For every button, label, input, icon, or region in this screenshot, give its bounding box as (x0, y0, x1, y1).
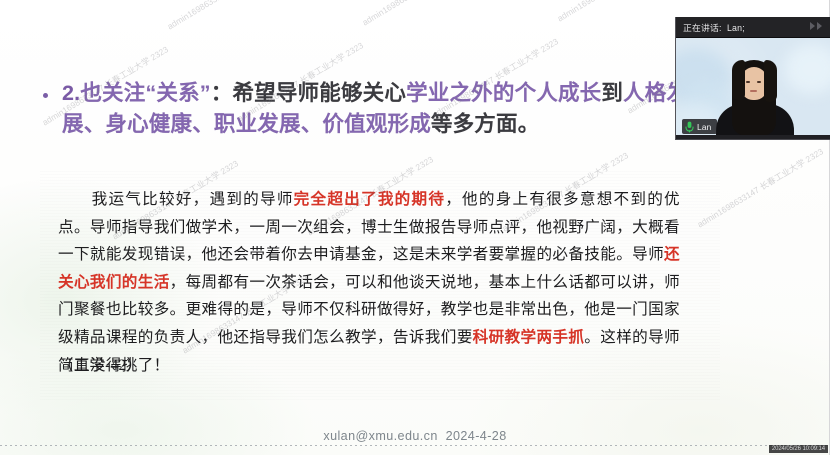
video-panel-titlebar[interactable]: 正在讲话: Lan; (676, 17, 830, 38)
speaker-mouth (750, 90, 757, 92)
quote-paragraph: 我运气比较好，遇到的导师完全超出了我的期待，他的身上有很多意想不到的优点。导师指… (58, 186, 680, 379)
heading-segment-purple-2: 学业之外的个人成长 (406, 81, 601, 105)
heading-segment-dark-1: ：希望导师能够关心 (211, 81, 406, 105)
heading-segment-purple-1: 也关注“关系” (80, 81, 210, 105)
quote-highlight-3: 科研教学两手抓 (473, 329, 585, 346)
heading-segment-dark-2: 等多方面。 (431, 112, 540, 136)
footer-date: 2024-4-28 (446, 429, 507, 443)
speaker-hair-left (732, 60, 745, 100)
footer-email: xulan@xmu.edu.cn (323, 429, 437, 443)
background-blob-4 (784, 44, 830, 94)
quote-highlight-1: 完全超出了我的期待 (294, 191, 446, 208)
mic-status-badge[interactable]: Lan (682, 119, 717, 134)
quote-segment-1: 我运气比较好，遇到的导师 (91, 191, 294, 208)
footer-contact: xulan@xmu.edu.cn 2024-4-28 (0, 429, 830, 443)
speaker-eye-left (746, 81, 750, 83)
chevron-right-icon-2 (817, 22, 822, 30)
bullet-point-icon (43, 93, 48, 98)
presentation-screenshare-screen: 2.也关注“关系”：希望导师能够关心学业之外的个人成长到人格发展、身心健康、职业… (0, 0, 830, 455)
video-feed[interactable]: Lan (676, 38, 830, 139)
microphone-icon (685, 121, 694, 133)
watermark: admin1698633147 长春工业大学 2323 (360, 0, 491, 28)
footer-divider (0, 445, 830, 446)
watermark: admin1698633147 长春工业大学 2323 (555, 0, 686, 24)
heading-text: 2.也关注“关系”：希望导师能够关心学业之外的个人成长到人格发展、身心健康、职业… (62, 78, 696, 140)
speaker-video-panel[interactable]: 正在讲话: Lan; (675, 17, 830, 140)
video-bottom-edge (676, 135, 830, 139)
heading-number: 2. (62, 81, 80, 105)
active-speaker-name: Lan; (727, 23, 745, 33)
watermark: admin1698633147 长春工业大学 2323 (695, 145, 826, 230)
speaker-eye-right (757, 81, 761, 83)
speaker-hair-right (764, 60, 777, 102)
quote-source-label: （工学-42） (58, 353, 142, 375)
video-panel-title: 正在讲话: Lan; (683, 21, 745, 34)
heading-line2-lead: 到 (601, 81, 623, 105)
double-chevron-icon[interactable] (810, 22, 822, 30)
slide-heading: 2.也关注“关系”：希望导师能够关心学业之外的个人成长到人格发展、身心健康、职业… (36, 78, 696, 140)
mic-speaker-name: Lan (697, 122, 711, 132)
recording-timestamp: 2024/05/26 10:09:14 (769, 445, 828, 453)
speaking-now-label: 正在讲话: (683, 23, 722, 33)
watermark: admin1698633147 长春工业大学 2323 (165, 0, 296, 32)
chevron-right-icon-1 (810, 22, 815, 30)
